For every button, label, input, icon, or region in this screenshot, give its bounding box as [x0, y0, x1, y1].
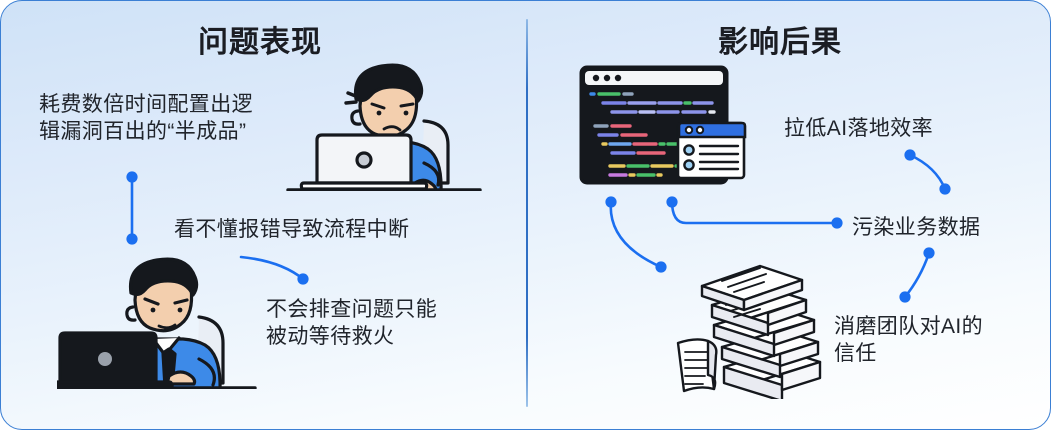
dot-polluted-data: [831, 217, 842, 228]
connector-right-elbow: [672, 201, 837, 223]
blurb-passive-firefighting: 不会排查问题只能 被动等待救火: [266, 296, 437, 350]
connector-right-long-curve: [611, 201, 661, 267]
dot-trust-top: [923, 247, 934, 258]
dot-papers: [655, 261, 666, 272]
dot-code-left: [605, 196, 616, 207]
dot-efficiency-end: [939, 183, 950, 194]
connector-right-upper-curve: [910, 155, 945, 189]
connector-left-curve: [241, 257, 303, 279]
dot-efficiency: [904, 149, 915, 160]
dot-code-right: [666, 196, 677, 207]
infographic-canvas: 问题表现 影响后果: [0, 0, 1051, 430]
blurb-eroded-trust: 消磨团队对AI的 信任: [834, 313, 983, 367]
blurb-polluted-data: 污染业务数据: [852, 214, 980, 241]
blurb-lower-ai-efficiency: 拉低AI落地效率: [784, 115, 933, 142]
dot-left-vertical-top: [126, 171, 137, 182]
blurb-unreadable-error: 看不懂报错导致流程中断: [174, 216, 409, 243]
connector-right-lower-curve: [905, 253, 929, 297]
dot-trust-bottom: [899, 291, 910, 302]
blurb-wasted-time: 耗费数倍时间配置出逻 辑漏洞百出的“半成品”: [39, 91, 253, 145]
dot-left-vertical-bottom: [126, 233, 137, 244]
dot-left-curve-end: [297, 273, 308, 284]
